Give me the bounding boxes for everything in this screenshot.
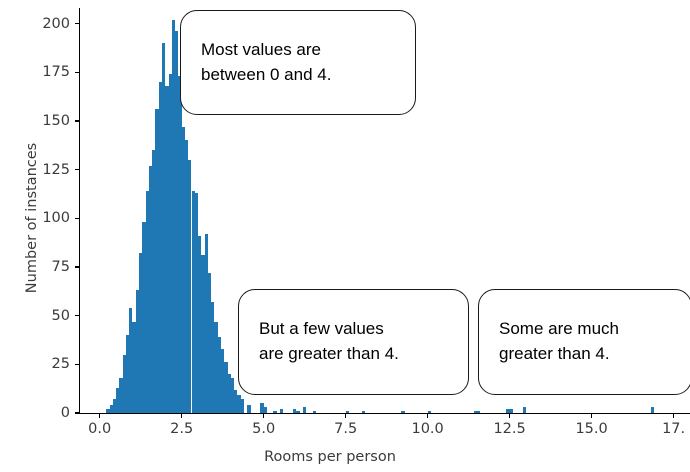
y-tick-label: 0 [10,405,70,421]
x-tick-mark [99,414,100,419]
x-tick-label: 2.5 [147,421,217,437]
annotation-most-values: Most values are between 0 and 4. [180,10,416,115]
y-tick-label: 175 [10,64,70,80]
y-tick-label: 25 [10,356,70,372]
histogram-bar [651,407,654,413]
histogram-bar [313,411,316,413]
x-tick-label: 15.0 [557,421,627,437]
histogram-bar [241,399,244,413]
x-tick-mark [591,414,592,419]
histogram-figure: 02550751001251501752000.02.55.07.510.012… [0,0,690,472]
x-tick-mark [345,414,346,419]
annotation-few-values: But a few values are greater than 4. [238,289,469,395]
x-tick-label: 5.0 [229,421,299,437]
y-tick-label: 150 [10,113,70,129]
histogram-bar [303,407,306,413]
annotation-some-much-greater: Some are much greater than 4. [478,289,690,395]
x-axis-label: Rooms per person [80,449,580,465]
x-tick-label: 10.0 [393,421,463,437]
x-tick-label: 7.5 [311,421,381,437]
histogram-bar [346,411,349,413]
x-tick-mark [263,414,264,419]
y-tick-label: 200 [10,16,70,32]
x-tick-mark [427,414,428,419]
histogram-bar [273,411,276,413]
y-tick-mark [75,315,80,316]
y-tick-label: 100 [10,210,70,226]
histogram-bar [477,411,480,413]
annotation-some-much-greater-line1: Some are much [499,317,671,342]
x-tick-label: 12.5 [475,421,545,437]
x-tick-mark [509,414,510,419]
y-tick-mark [75,218,80,219]
histogram-bar [523,407,526,413]
histogram-bar [296,411,299,413]
y-tick-mark [75,72,80,73]
y-tick-mark [75,120,80,121]
x-tick-label: 17. [639,421,690,437]
y-tick-mark [75,266,80,267]
y-tick-label: 50 [10,308,70,324]
y-tick-mark [75,169,80,170]
y-tick-mark [75,364,80,365]
y-tick-label: 125 [10,162,70,178]
histogram-bar [264,407,267,413]
histogram-bar [510,409,513,413]
y-tick-mark [75,412,80,413]
histogram-bar [280,409,283,413]
annotation-some-much-greater-line2: greater than 4. [499,342,671,367]
histogram-bar [401,411,404,413]
histogram-bar [362,411,365,413]
annotation-few-values-line1: But a few values [259,317,448,342]
y-tick-mark [75,23,80,24]
x-tick-label: 0.0 [65,421,135,437]
histogram-bar [247,405,250,413]
y-tick-label: 75 [10,259,70,275]
y-axis-label: Number of instances [24,98,40,338]
histogram-bar [428,411,431,413]
x-tick-mark [673,414,674,419]
x-tick-mark [181,414,182,419]
annotation-few-values-line2: are greater than 4. [259,342,448,367]
annotation-most-values-line2: between 0 and 4. [201,63,395,88]
annotation-most-values-line1: Most values are [201,38,395,63]
